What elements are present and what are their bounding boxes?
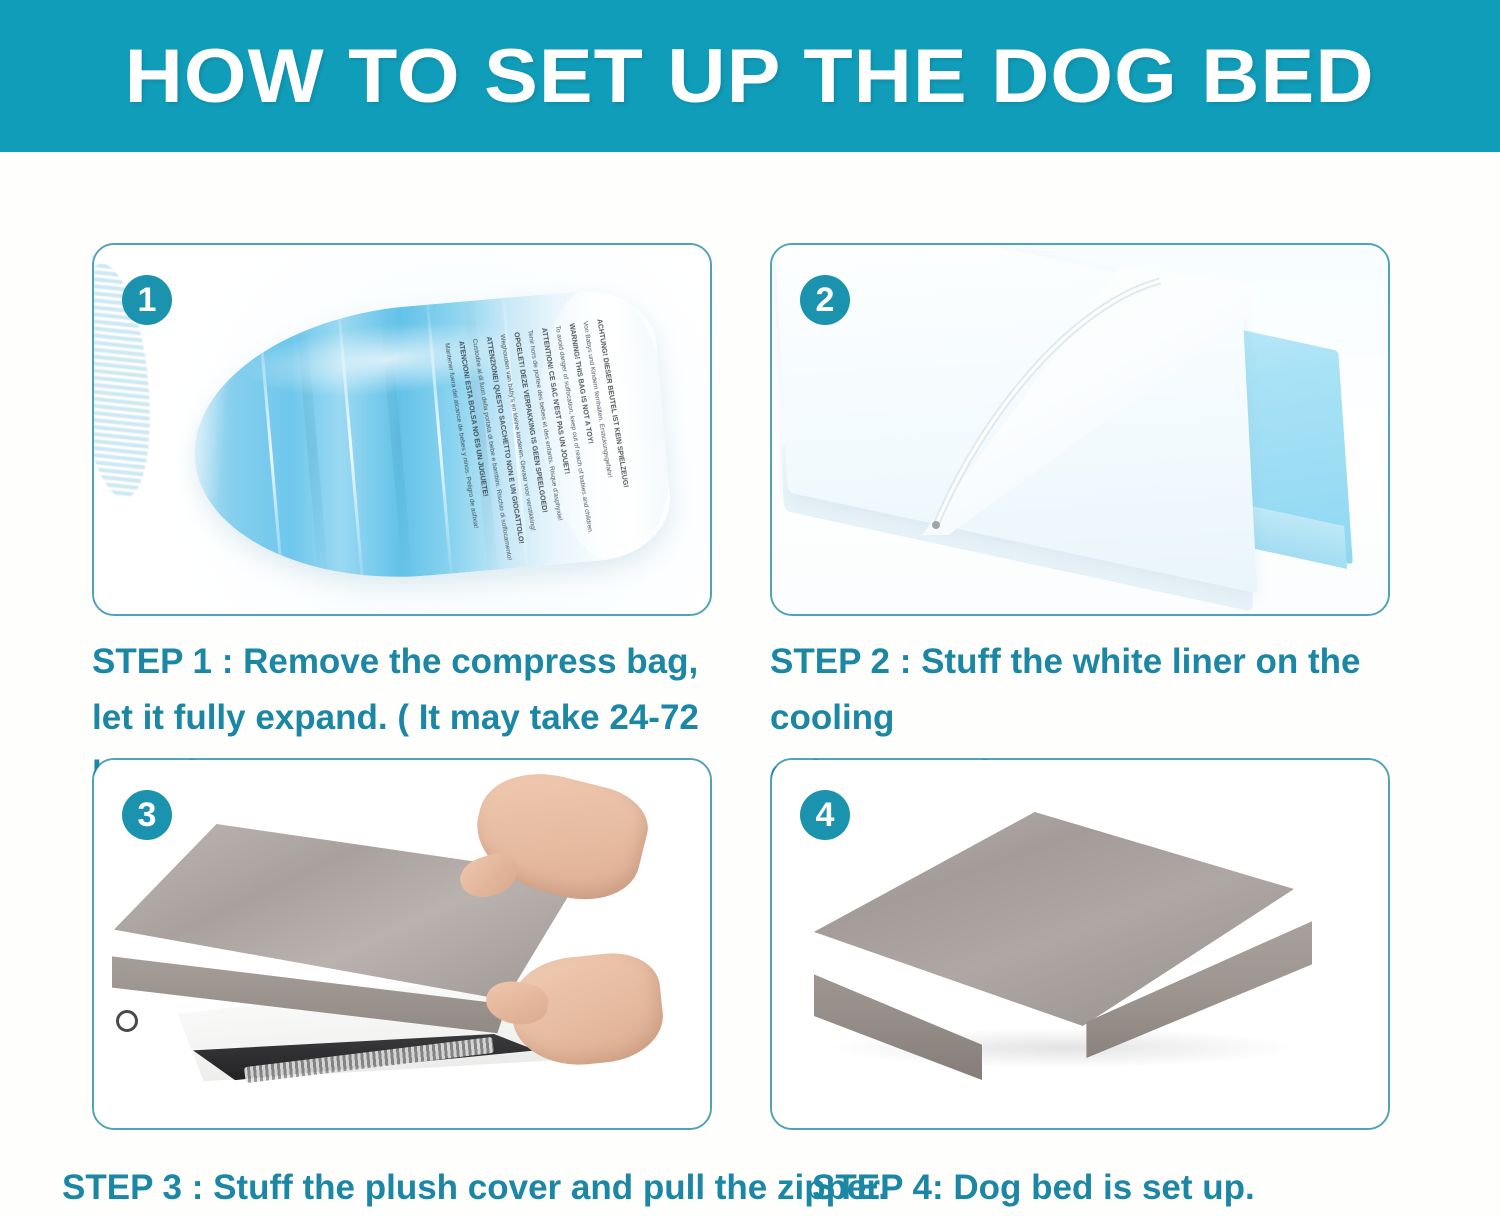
step-4-image-panel: 4 (770, 758, 1390, 1130)
step-4-badge: 4 (800, 790, 850, 840)
step-4-caption: STEP 4: Dog bed is set up. (812, 1160, 1255, 1216)
step-2-photo (772, 245, 1388, 614)
bag-warning-label: ACHTUNG! DIESER BEUTEL IST KEIN SPIELZEU… (373, 319, 632, 543)
step-3-photo (94, 760, 710, 1128)
step-1-badge: 1 (122, 275, 172, 325)
zipper-pull-icon (116, 1010, 138, 1032)
liner-zipper (922, 275, 1172, 533)
step-4-photo (772, 760, 1388, 1128)
step-3-badge: 3 (122, 790, 172, 840)
step-3-caption: STEP 3 : Stuff the plush cover and pull … (62, 1160, 888, 1216)
step-2-image-panel: 2 (770, 243, 1390, 616)
step-1-photo: ACHTUNG! DIESER BEUTEL IST KEIN SPIELZEU… (94, 245, 710, 614)
page-title: HOW TO SET UP THE DOG BED (125, 33, 1375, 120)
step-1-image-panel: ACHTUNG! DIESER BEUTEL IST KEIN SPIELZEU… (92, 243, 712, 616)
step-3-image-panel: 3 (92, 758, 712, 1130)
step-2-badge: 2 (800, 275, 850, 325)
page-header-banner: HOW TO SET UP THE DOG BED (0, 0, 1500, 152)
